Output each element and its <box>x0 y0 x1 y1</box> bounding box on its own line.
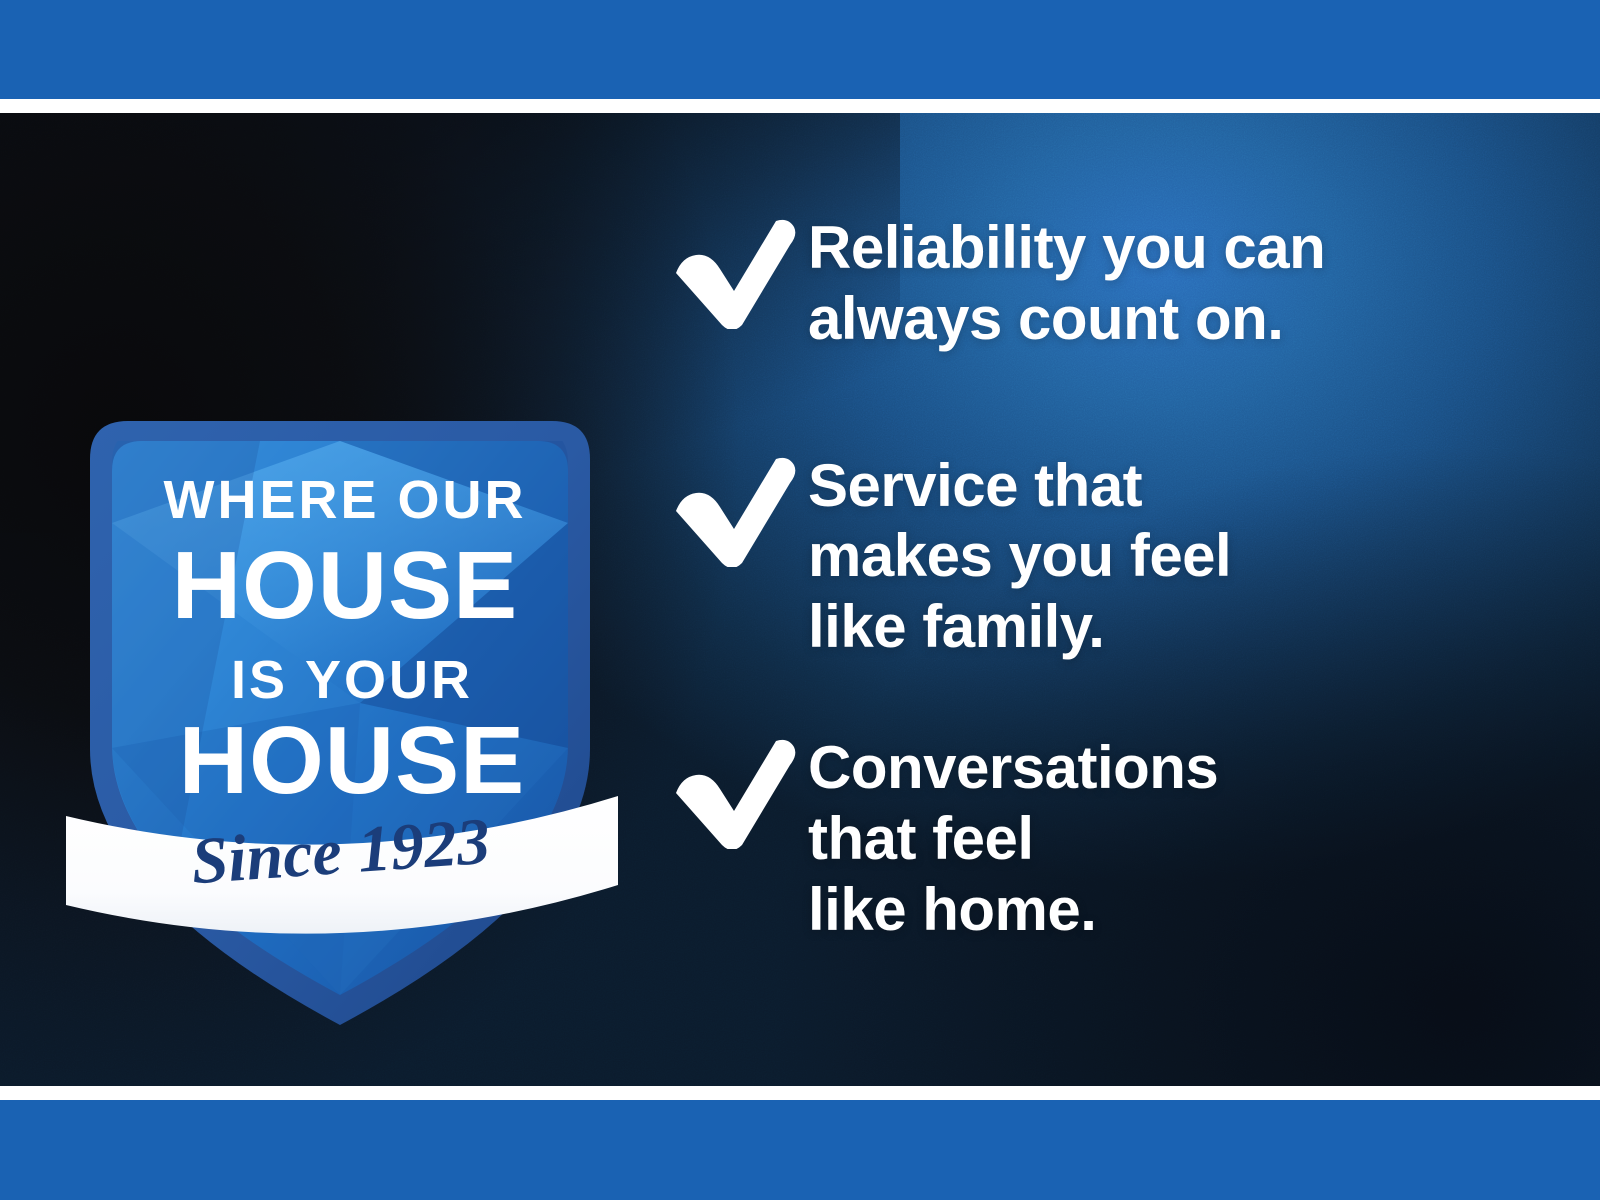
top-brand-bar <box>0 0 1600 99</box>
main-stage: WHERE OUR HOUSE IS YOUR HOUSE Since 1923… <box>0 113 1600 1086</box>
bottom-brand-bar <box>0 1100 1600 1200</box>
badge-line-4: HOUSE <box>179 707 525 814</box>
top-white-divider <box>0 99 1600 113</box>
list-item-label: Service that makes you feel like family. <box>808 451 1572 663</box>
badge-line-3: IS YOUR <box>231 650 473 710</box>
benefits-list: Reliability you can always count on. Ser… <box>672 213 1572 945</box>
badge-line-2: HOUSE <box>172 532 518 639</box>
list-item-label: Conversations that feel like home. <box>808 733 1572 945</box>
list-item: Conversations that feel like home. <box>672 733 1572 945</box>
list-item: Service that makes you feel like family. <box>672 451 1572 663</box>
shield-badge: WHERE OUR HOUSE IS YOUR HOUSE Since 1923 <box>60 273 620 1063</box>
promo-graphic: WHERE OUR HOUSE IS YOUR HOUSE Since 1923… <box>0 0 1600 1200</box>
check-icon <box>672 213 808 329</box>
bottom-white-divider <box>0 1086 1600 1100</box>
check-icon <box>672 451 808 567</box>
list-item-label: Reliability you can always count on. <box>808 213 1572 355</box>
badge-line-1: WHERE OUR <box>164 470 527 530</box>
check-icon <box>672 733 808 849</box>
list-item: Reliability you can always count on. <box>672 213 1572 355</box>
